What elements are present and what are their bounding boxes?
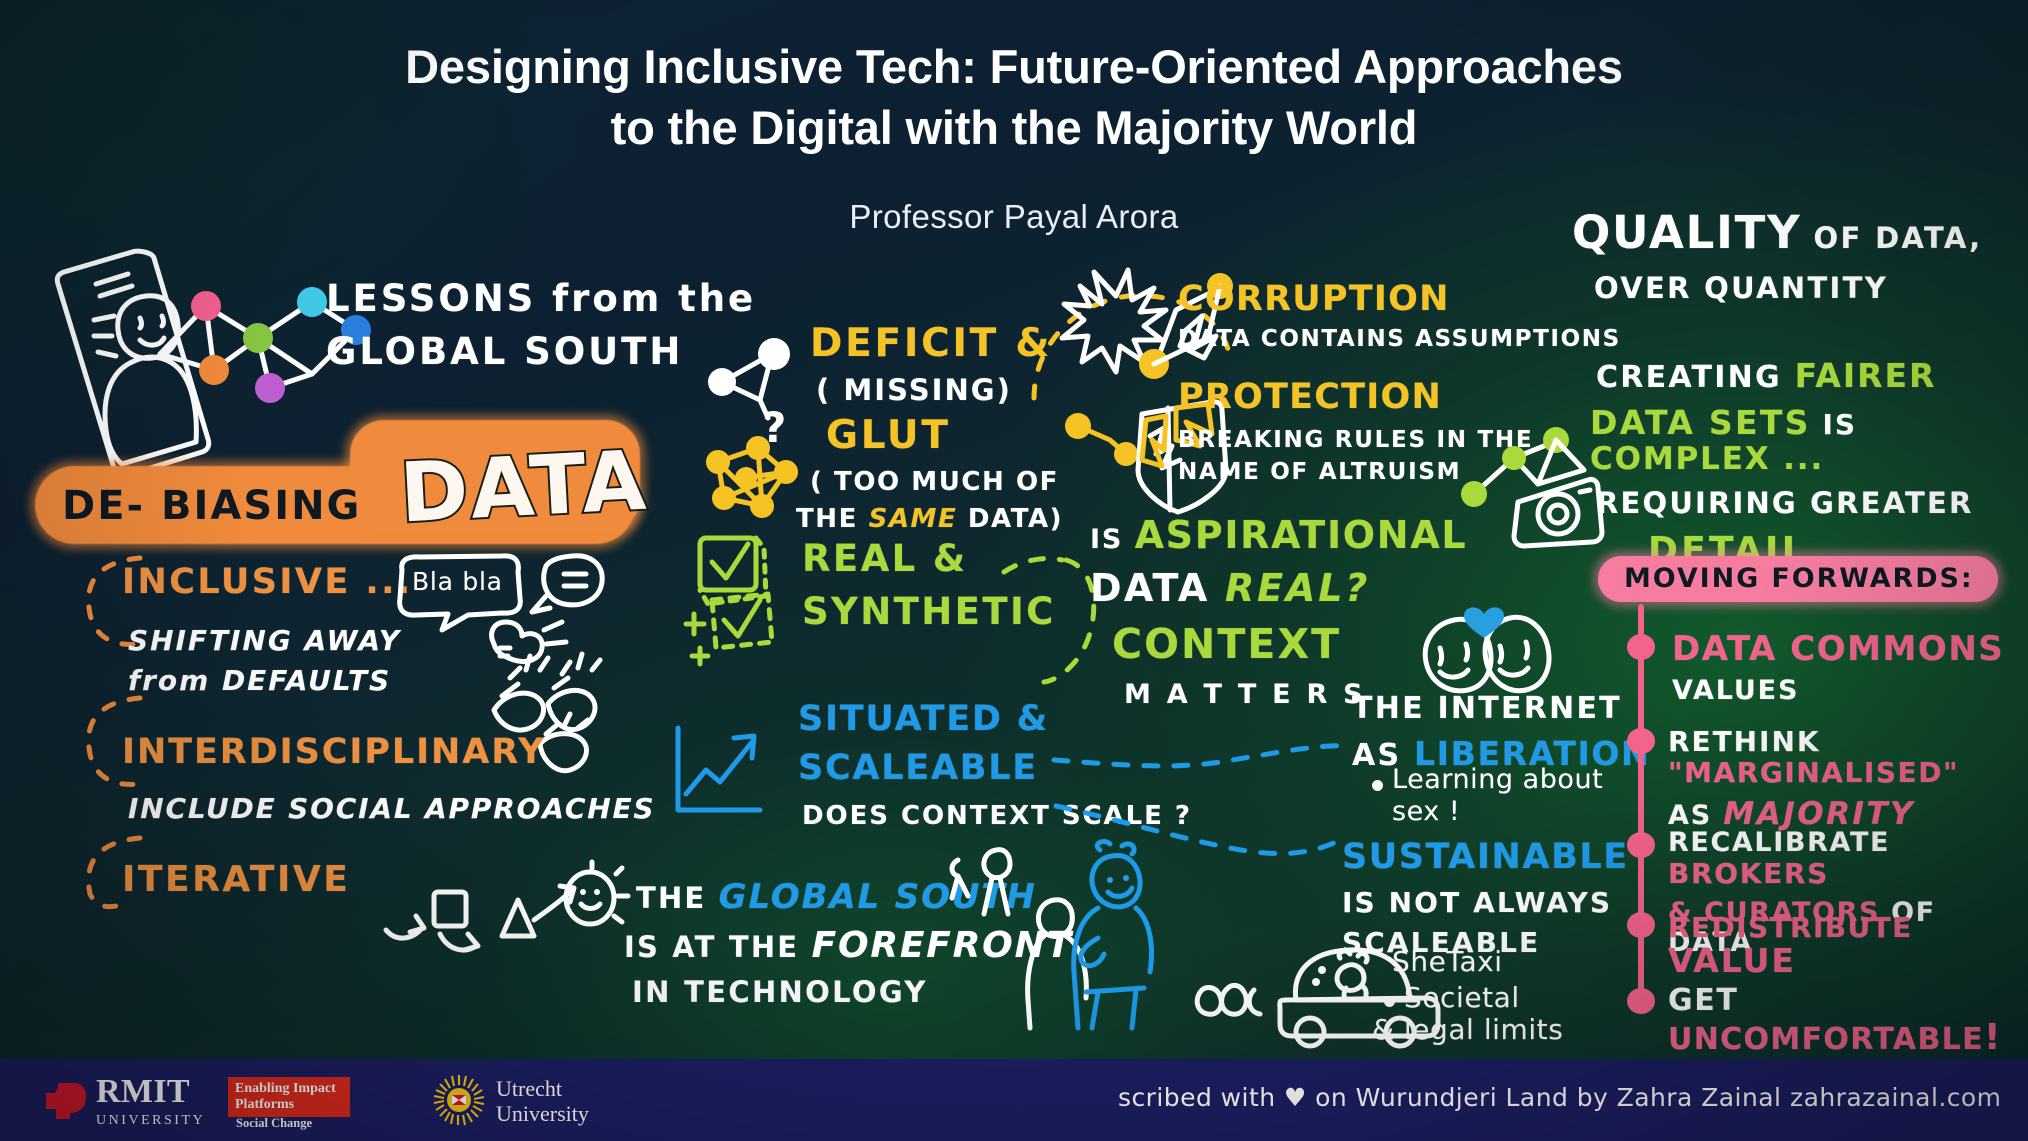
left-item-0-sub-line-2: from DEFAULTS <box>128 665 401 696</box>
deficit-line-2: ( MISSING) <box>816 374 1063 406</box>
aspirational-line-2-a: DATA <box>1090 566 1225 610</box>
mf-item-1: RETHINK "MARGINALISED" AS MAJORITY <box>1668 726 2028 831</box>
fairer-line-1-b: FAIRER <box>1795 356 1937 395</box>
scribe-credit: scribed with ♥ on Wurundjeri Land by Zah… <box>1118 1083 1781 1112</box>
fairer-line-2-b: IS <box>1811 408 1857 441</box>
aspirational-line-1-b: ASPIRATIONAL <box>1135 513 1468 557</box>
mf-item-0: DATA COMMONS VALUES <box>1672 630 2004 706</box>
shetaxi-bullet-dot <box>1384 996 1395 1007</box>
bla-bla-text: Bla bla <box>412 568 503 596</box>
mf-item-3-main-b: VALUE <box>1668 941 1796 980</box>
eip-line-1: Enabling Impact <box>235 1081 342 1097</box>
eip-line-2: Platforms <box>235 1097 342 1113</box>
mf-item-2-main-a: RECALIBRATE <box>1668 827 1890 858</box>
aspirational-line-2-b: REAL? <box>1225 566 1370 610</box>
moving-forwards-pill: MOVING FORWARDS: <box>1592 552 2012 608</box>
sketchnote-canvas: Designing Inclusive Tech: Future-Oriente… <box>0 0 2028 1141</box>
utrecht-university-logo <box>432 1073 486 1127</box>
lessons-line-1: LESSONS from the <box>326 278 756 319</box>
context-block: CONTEXT M A T T E R S <box>1112 622 1366 710</box>
deficit-line-3: GLUT <box>826 414 1063 458</box>
uu-line-2: University <box>496 1102 589 1127</box>
lessons-heading: LESSONS from the GLOBAL SOUTH <box>326 278 756 373</box>
mf-item-3-main-a: REDISTRIBUTE <box>1668 911 1913 944</box>
corruption-body: DATA CONTAINS ASSUMPTIONS <box>1178 327 1621 353</box>
fairer-line-3: REQUIRING GREATER <box>1596 487 2028 519</box>
quality-rest: OF DATA, <box>1814 221 1983 255</box>
mf-item-4-main-b: UNCOMFORTABLE <box>1668 1022 1984 1057</box>
context-heading: CONTEXT <box>1112 622 1366 668</box>
page-title-line-1: Designing Inclusive Tech: Future-Oriente… <box>0 36 2028 97</box>
rmit-wordmark: RMIT UNIVERSITY <box>96 1075 205 1129</box>
corruption-heading: CORRUPTION <box>1178 280 1621 319</box>
left-item-1-heading: INTERDISCIPLINARY <box>122 733 546 772</box>
de-biasing-data-banner: DE- BIASING DATA <box>20 418 660 550</box>
moving-forwards-timeline-tail <box>1638 944 1644 1002</box>
mf-item-2-main-b: BROKERS <box>1668 857 1829 890</box>
quality-heading: QUALITYOF DATA, OVER QUANTITY <box>1572 208 1982 305</box>
left-item-2-heading: ITERATIVE <box>122 860 350 900</box>
mf-dot-2 <box>1627 832 1655 858</box>
mf-item-4: GET UNCOMFORTABLE! <box>1668 984 2028 1058</box>
corruption-block: CORRUPTION DATA CONTAINS ASSUMPTIONS <box>1178 280 1621 353</box>
checkbox-pair-icon <box>686 530 806 680</box>
mf-item-0-sub: VALUES <box>1672 676 2004 706</box>
shetaxi-bullet-line-1: Societal <box>1404 982 1520 1013</box>
deficit-glut-block: DEFICIT & ( MISSING) GLUT ( TOO MUCH OF … <box>810 322 1063 534</box>
page-title: Designing Inclusive Tech: Future-Oriente… <box>0 36 2028 158</box>
scribe-url[interactable]: zahrazainal.com <box>1790 1083 2001 1112</box>
mf-dot-1 <box>1627 728 1655 754</box>
footer-bar: RMIT UNIVERSITY Enabling Impact Platform… <box>0 1059 2028 1141</box>
global-south-line-1-a: THE <box>636 881 719 915</box>
quality-line-2: OVER QUANTITY <box>1594 272 1982 304</box>
mf-dot-3 <box>1627 912 1655 938</box>
rmit-name: RMIT <box>96 1075 205 1109</box>
fairer-data-block: CREATING FAIRER DATA SETS IS COMPLEX ...… <box>1596 358 2028 571</box>
left-item-1-sub: INCLUDE SOCIAL APPROACHES <box>128 793 655 824</box>
mf-item-1-main-a: RETHINK <box>1668 725 1821 758</box>
mf-item-4-main-c: ! <box>1984 1017 2002 1058</box>
deficit-line-5-a: THE <box>796 504 869 534</box>
quality-big: QUALITY <box>1572 206 1802 259</box>
iterative-shapes-icon <box>378 862 618 982</box>
aspirational-line-1-a: IS <box>1090 524 1135 555</box>
mf-dot-0 <box>1627 634 1655 660</box>
rmit-logo-mark <box>44 1081 88 1121</box>
sustainable-line-1: IS NOT ALWAYS <box>1342 887 1629 918</box>
enabling-impact-platforms-badge: Enabling Impact Platforms <box>228 1077 350 1117</box>
deficit-line-5-same: SAME <box>869 504 958 534</box>
fairer-line-1-a: CREATING <box>1596 360 1795 395</box>
camera-network-icon <box>1458 398 1628 558</box>
people-group-icon <box>940 842 1150 1032</box>
internet-line-1: THE INTERNET <box>1352 692 1650 726</box>
shetaxi-bullet-line-2: & legal limits <box>1372 1014 1563 1045</box>
data-word: DATA <box>398 436 651 541</box>
uu-line-1: Utrecht <box>496 1077 589 1102</box>
internet-bullet-text: Learning about sex ! <box>1392 764 1642 829</box>
mf-item-0-main: DATA COMMONS <box>1672 630 2004 668</box>
left-item-0-sub: SHIFTING AWAY from DEFAULTS <box>128 625 401 697</box>
shetaxi-title: SheTaxi <box>1392 946 1503 977</box>
mf-item-1-main-b: "MARGINALISED" <box>1668 756 1959 789</box>
rmit-sub: UNIVERSITY <box>96 1113 205 1129</box>
line-chart-up-icon <box>664 720 774 830</box>
page-title-line-2: to the Digital with the Majority World <box>0 97 2028 158</box>
left-item-0-heading: INCLUSIVE ... <box>122 563 413 602</box>
deficit-line-4: ( TOO MUCH OF <box>810 468 1063 497</box>
moving-forwards-label: MOVING FORWARDS: <box>1624 564 1974 594</box>
global-south-line-2-a: IS AT THE <box>624 930 812 964</box>
internet-bullet-dot <box>1372 780 1383 791</box>
utrecht-wordmark: Utrecht University <box>496 1077 589 1126</box>
aspirational-block: IS ASPIRATIONAL DATA REAL? <box>1090 514 1467 609</box>
lessons-line-2: GLOBAL SOUTH <box>326 331 756 372</box>
internet-block: THE INTERNET AS LIBERATION <box>1352 692 1650 773</box>
left-item-0-sub-line-1: SHIFTING AWAY <box>128 625 401 656</box>
situated-line-1: SITUATED & <box>798 700 1192 739</box>
eip-social-change: Social Change <box>236 1116 312 1131</box>
de-biasing-label: DE- BIASING <box>62 484 361 529</box>
deficit-line-1: DEFICIT & <box>810 322 1063 366</box>
mf-item-4-main-a: GET <box>1668 983 1739 1018</box>
sustainable-heading: SUSTAINABLE <box>1342 838 1629 877</box>
mf-item-3: REDISTRIBUTE VALUE <box>1668 912 2028 980</box>
